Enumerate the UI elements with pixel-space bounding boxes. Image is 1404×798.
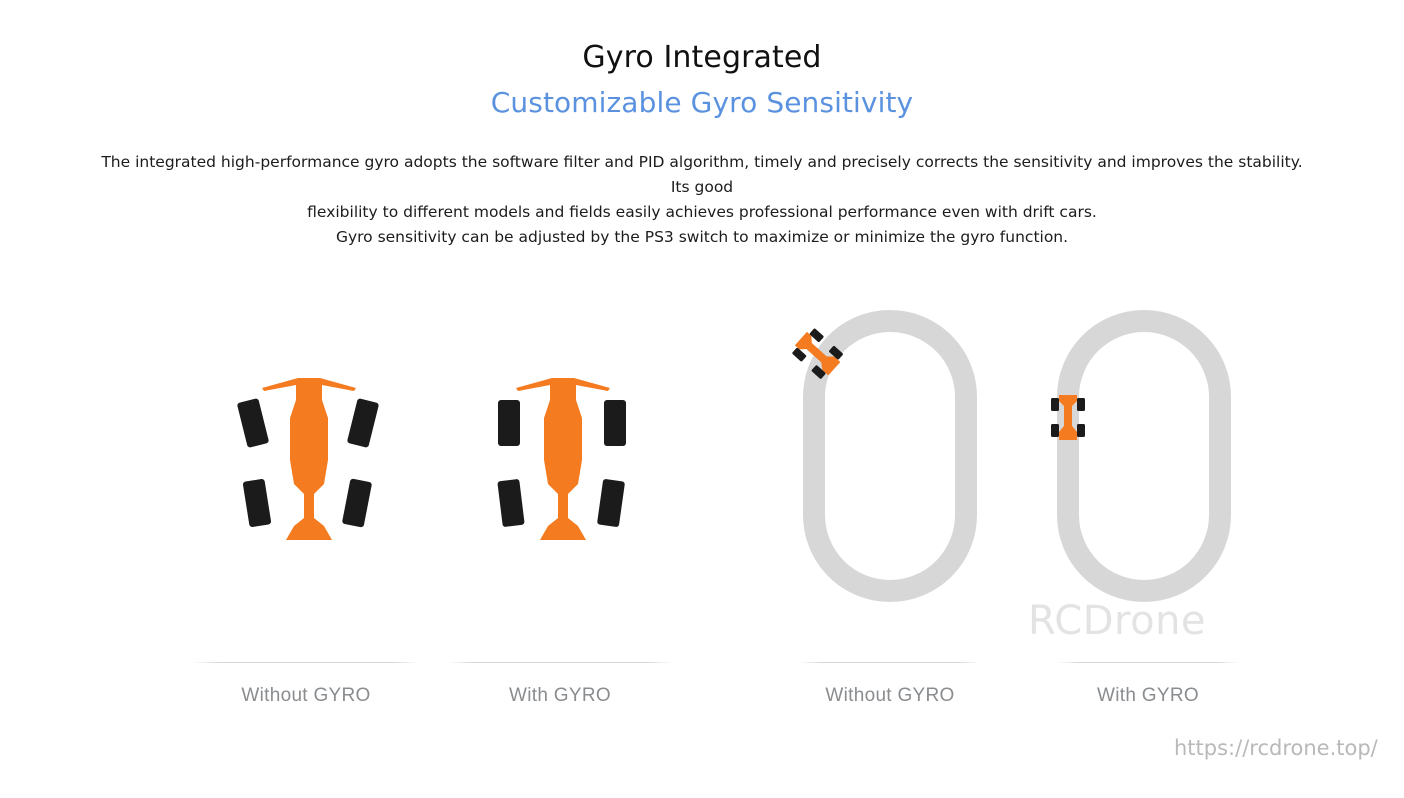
car-body-shape [262, 378, 356, 540]
wheel-front-right [604, 400, 626, 446]
description-line-1: The integrated high-performance gyro ado… [90, 150, 1314, 200]
caption-divider-line [800, 662, 980, 663]
car-body-shape [516, 378, 610, 540]
mini-wheel-rear-left [1051, 424, 1059, 437]
description-line-2: flexibility to different models and fiel… [90, 200, 1314, 225]
panel-chassis-without-gyro [228, 372, 388, 552]
caption-divider-line [193, 662, 419, 663]
url-watermark: https://rcdrone.top/ [1174, 736, 1378, 760]
caption-label: With GYRO [447, 685, 673, 707]
slide-root: Gyro Integrated Customizable Gyro Sensit… [0, 0, 1404, 798]
brand-watermark: RCDrone [1028, 598, 1206, 644]
wheel-rear-right [342, 478, 372, 527]
wheel-rear-left [497, 479, 524, 527]
caption-chassis-without-gyro: Without GYRO [193, 662, 419, 707]
caption-divider-line [1058, 662, 1238, 663]
mini-wheel-rear-right [1077, 424, 1085, 437]
description-paragraph: The integrated high-performance gyro ado… [90, 150, 1314, 250]
panel-chassis-with-gyro [482, 372, 642, 552]
wheel-rear-right [597, 479, 625, 528]
mini-car-body [1059, 395, 1077, 440]
rc-car-top-view-stable [482, 372, 642, 552]
mini-rc-car-on-track [1051, 392, 1085, 444]
wheel-front-left [498, 400, 520, 446]
caption-label: With GYRO [1058, 685, 1238, 707]
wheel-rear-left [243, 479, 272, 528]
caption-label: Without GYRO [193, 685, 419, 707]
panel-track-without-gyro [803, 310, 977, 602]
caption-label: Without GYRO [800, 685, 980, 707]
panel-track-with-gyro [1057, 310, 1231, 602]
mini-wheel-front-left [792, 347, 807, 362]
caption-track-without-gyro: Without GYRO [800, 662, 980, 707]
caption-track-with-gyro: With GYRO [1058, 662, 1238, 707]
mini-wheel-front-left [1051, 398, 1059, 411]
caption-chassis-with-gyro: With GYRO [447, 662, 673, 707]
description-line-3: Gyro sensitivity can be adjusted by the … [90, 225, 1314, 250]
page-subtitle: Customizable Gyro Sensitivity [0, 86, 1404, 119]
mini-wheel-front-right [1077, 398, 1085, 411]
caption-divider-line [447, 662, 673, 663]
page-title: Gyro Integrated [0, 40, 1404, 75]
rc-car-top-view-unstable [228, 372, 388, 552]
wheel-front-left [237, 398, 269, 448]
wheel-front-right [347, 398, 379, 448]
oval-track-outline [1057, 310, 1231, 602]
